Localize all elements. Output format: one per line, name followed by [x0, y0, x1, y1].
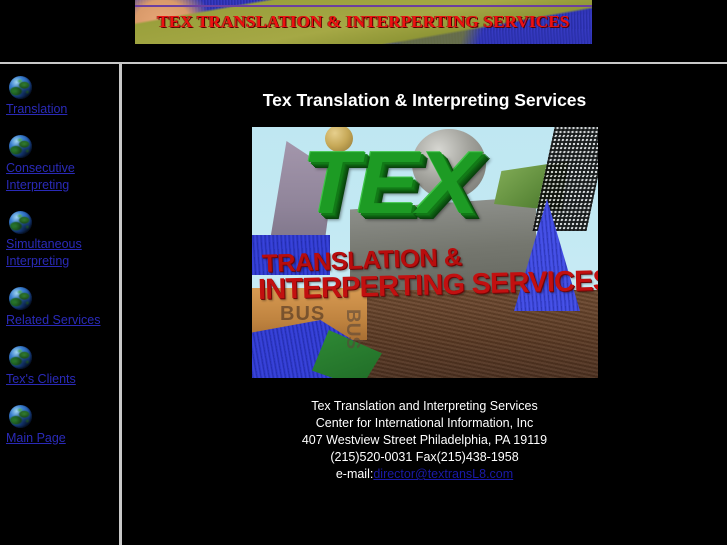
sidebar-item-main-page[interactable]: Main Page	[0, 405, 119, 447]
contact-company-name: Tex Translation and Interpreting Service…	[122, 398, 727, 415]
globe-icon	[9, 211, 32, 234]
sidebar-item-label: Consecutive Interpreting	[6, 160, 119, 194]
hero-ghost-text-vertical: BUS	[343, 309, 362, 349]
tex-logo-collage-image: BUS BUS TEX TRANSLATION & INTERPERTING S…	[252, 127, 598, 378]
sidebar-item-label: Related Services	[6, 312, 119, 329]
sidebar-item-label: Tex's Clients	[6, 371, 119, 388]
hero-ghost-text: BUS	[280, 303, 325, 326]
sidebar-item-label: Translation	[6, 101, 119, 118]
sidebar-navigation: Translation Consecutive Interpreting Sim…	[0, 64, 119, 545]
main-content: Tex Translation & Interpreting Services …	[122, 64, 727, 545]
contact-block: Tex Translation and Interpreting Service…	[122, 398, 727, 483]
sidebar-item-related-services[interactable]: Related Services	[0, 287, 119, 329]
email-label: e-mail:	[336, 467, 374, 481]
sidebar-item-label: Simultaneous Interpreting	[6, 236, 119, 270]
email-link[interactable]: director@textransL8.com	[373, 467, 513, 481]
globe-icon	[9, 76, 32, 99]
contact-email-row: e-mail:director@textransL8.com	[122, 466, 727, 483]
sidebar-item-tex-clients[interactable]: Tex's Clients	[0, 346, 119, 388]
sidebar-item-label: Main Page	[6, 430, 119, 447]
hero-logo-text: TEX	[302, 139, 477, 227]
sidebar-item-consecutive-interpreting[interactable]: Consecutive Interpreting	[0, 135, 119, 194]
page-title: Tex Translation & Interpreting Services	[122, 90, 727, 111]
banner-area: TEX TRANSLATION & INTERPERTING SERVICES	[0, 0, 727, 45]
sidebar-item-translation[interactable]: Translation	[0, 76, 119, 118]
site-banner-image: TEX TRANSLATION & INTERPERTING SERVICES	[135, 0, 592, 44]
globe-icon	[9, 135, 32, 158]
globe-icon	[9, 287, 32, 310]
contact-organization: Center for International Information, In…	[122, 415, 727, 432]
globe-icon	[9, 346, 32, 369]
banner-title: TEX TRANSLATION & INTERPERTING SERVICES	[135, 12, 592, 32]
globe-icon	[9, 405, 32, 428]
sidebar-item-simultaneous-interpreting[interactable]: Simultaneous Interpreting	[0, 211, 119, 270]
contact-address: 407 Westview Street Philadelphia, PA 191…	[122, 432, 727, 449]
contact-phone-fax: (215)520-0031 Fax(215)438-1958	[122, 449, 727, 466]
